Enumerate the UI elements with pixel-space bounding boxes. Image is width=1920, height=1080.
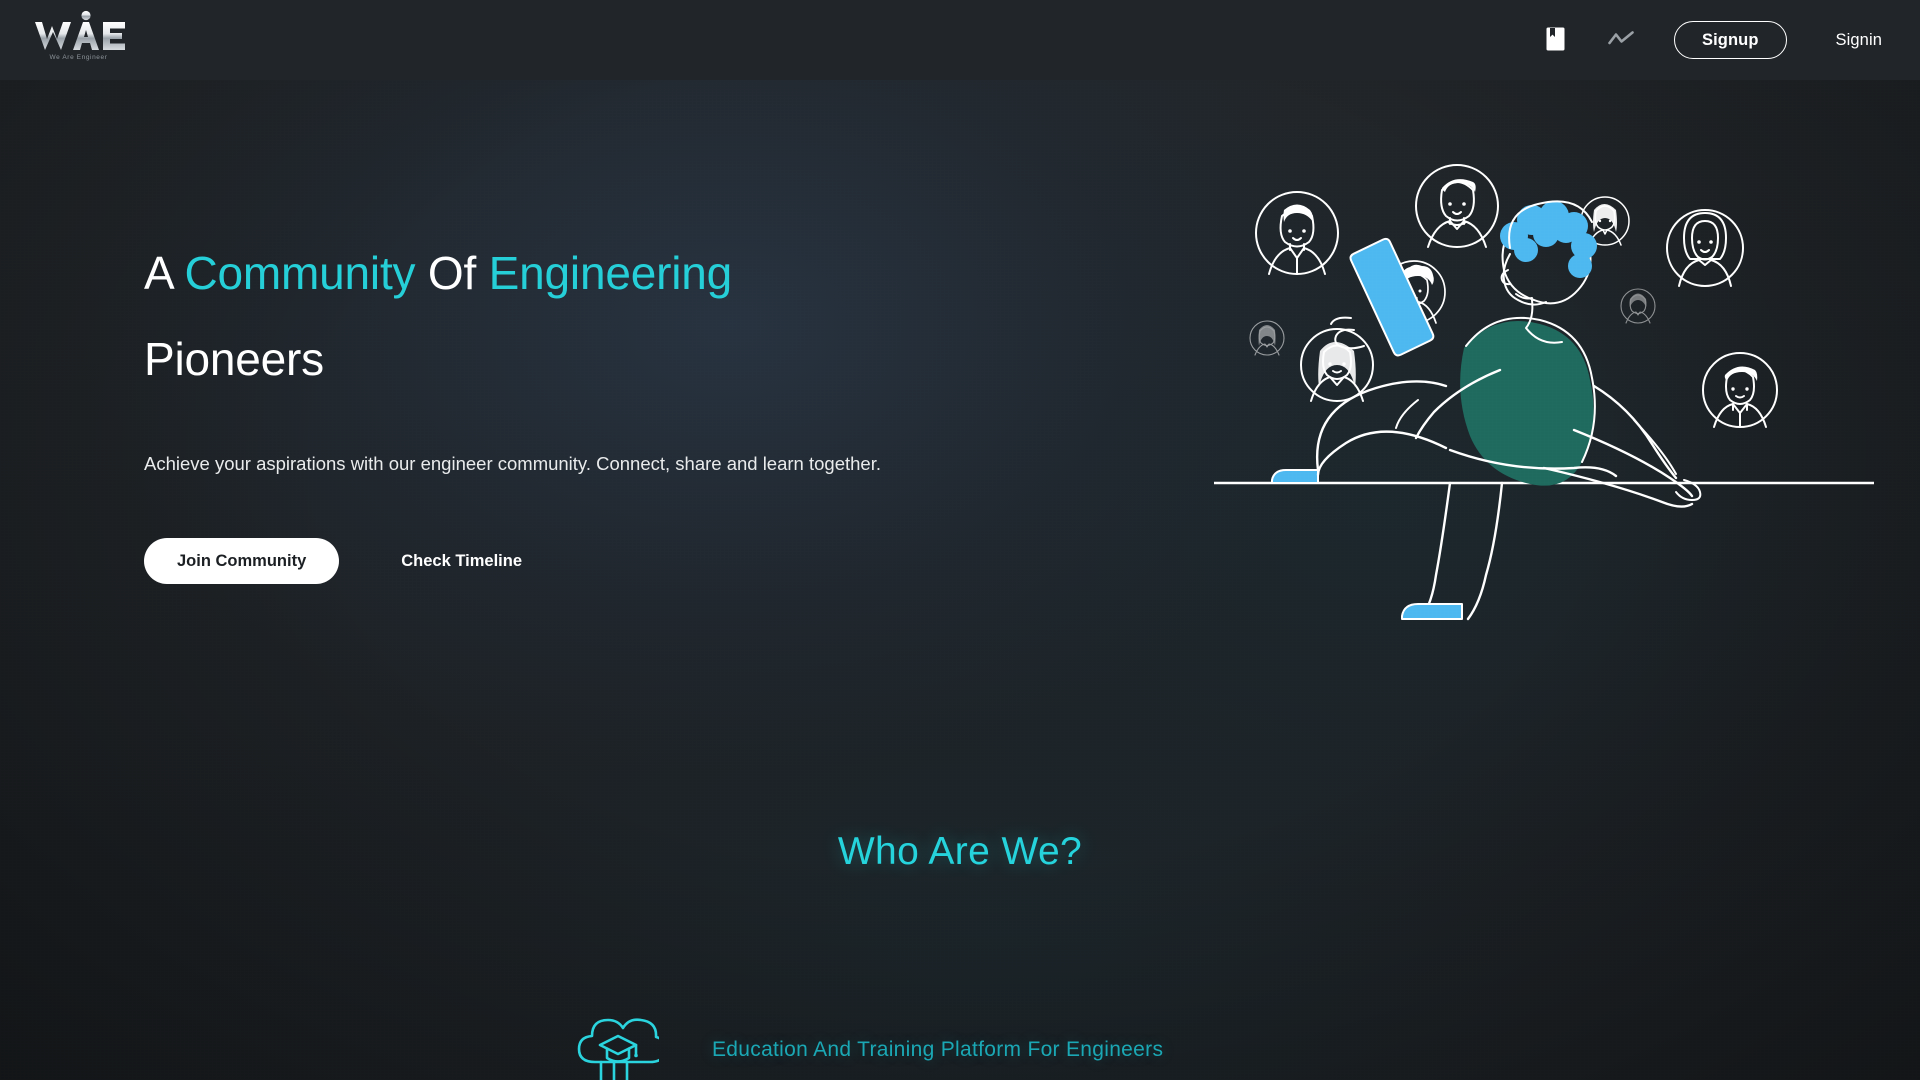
hero-title: A Community Of Engineering Pioneers <box>144 230 904 402</box>
avatar-circle <box>1667 210 1743 286</box>
hero-title-part3: Pioneers <box>144 333 324 385</box>
signin-link[interactable]: Signin <box>1836 31 1882 50</box>
book-bookmark-icon-button[interactable] <box>1528 13 1582 67</box>
hero-title-part2: Of <box>415 247 488 299</box>
avatar-circle <box>1703 353 1777 427</box>
page-root: We Are Engineer Signup Sig <box>0 0 1920 1080</box>
cloud-graduation-cap-icon <box>573 1004 659 1080</box>
hero-title-accent-community: Community <box>185 247 416 299</box>
hero-copy: A Community Of Engineering Pioneers Achi… <box>144 230 904 584</box>
signup-button[interactable]: Signup <box>1674 21 1787 59</box>
hero-illustration <box>1214 158 1874 678</box>
hero-action-buttons: Join Community Check Timeline <box>144 538 904 584</box>
who-are-we-section: Who Are We? <box>0 830 1920 874</box>
avatar-circle <box>1301 329 1373 401</box>
trending-line-icon-button[interactable] <box>1594 13 1648 67</box>
join-community-button[interactable]: Join Community <box>144 538 339 584</box>
navbar-actions: Signup Signin <box>1528 0 1882 80</box>
book-bookmark-icon <box>1546 27 1565 54</box>
hero-section: A Community Of Engineering Pioneers Achi… <box>0 80 1920 690</box>
check-timeline-button[interactable]: Check Timeline <box>401 552 522 571</box>
avatar-circle <box>1250 321 1284 355</box>
avatar-circle <box>1256 192 1338 274</box>
top-navigation-bar: We Are Engineer Signup Sig <box>0 0 1920 80</box>
feature-text: Education And Training Platform For Engi… <box>712 1038 1163 1062</box>
avatar-circle <box>1621 289 1655 323</box>
who-are-we-title: Who Are We? <box>0 830 1920 874</box>
trending-line-icon <box>1608 30 1634 51</box>
hero-title-part1: A <box>144 247 185 299</box>
avatar-circle <box>1416 165 1498 247</box>
brand-logo[interactable]: We Are Engineer <box>26 4 131 66</box>
hero-title-accent-engineering: Engineering <box>489 247 732 299</box>
hero-subtitle: Achieve your aspirations with our engine… <box>144 448 904 480</box>
brand-tagline: We Are Engineer <box>49 54 107 61</box>
